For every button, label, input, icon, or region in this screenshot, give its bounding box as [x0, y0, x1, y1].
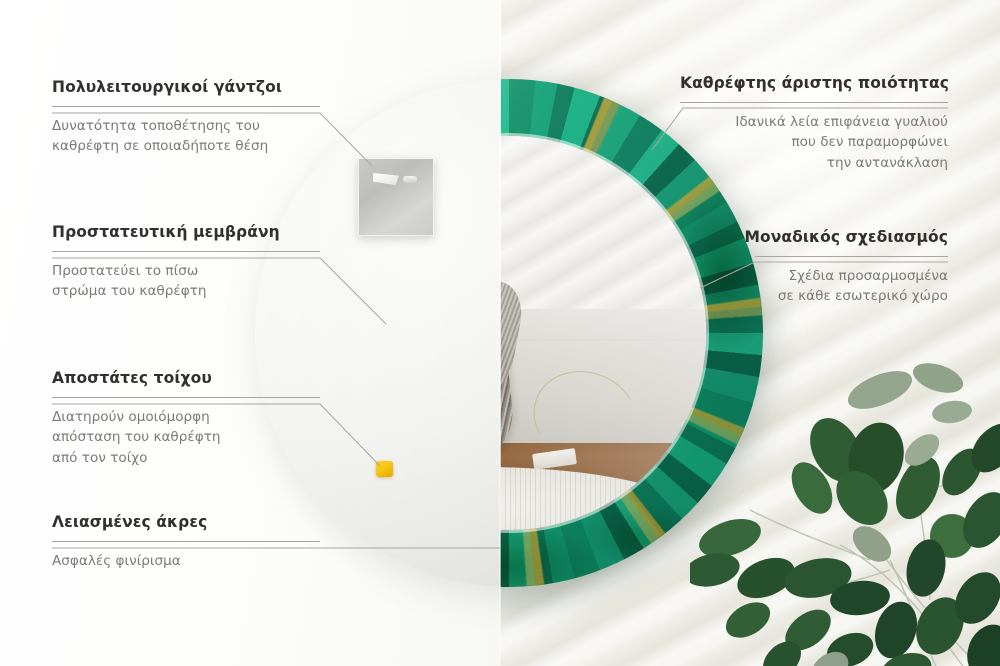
callout-design-rule [755, 256, 948, 257]
glass-specular-shine [500, 136, 706, 530]
callout-hooks-title: Πολυλειτουργικοί γάντζοι [52, 78, 320, 97]
callout-hooks: Πολυλειτουργικοί γάντζοι Δυνατότητα τοπο… [52, 78, 320, 157]
callout-design-body: Σχέδια προσαρμοσμένα σε κάθε εσωτερικό χ… [680, 266, 948, 307]
infographic-canvas: Πολυλειτουργικοί γάντζοι Δυνατότητα τοπο… [0, 0, 1000, 666]
mirror-glass-reflection [500, 136, 706, 530]
panel-split-divider [499, 0, 501, 666]
callout-membrane-body: Προστατεύει το πίσω στρώμα του καθρέφτη [52, 261, 320, 302]
callout-edges-body: Ασφαλές φινίρισμα [52, 551, 320, 572]
callout-membrane: Προστατευτική μεμβράνη Προστατεύει το πί… [52, 223, 320, 302]
callout-hooks-body: Δυνατότητα τοποθέτησης του καθρέφτη σε ο… [52, 116, 320, 157]
callout-spacers-rule [52, 397, 320, 398]
callout-design-title: Μοναδικός σχεδιασμός [680, 228, 948, 247]
callout-edges: Λειασμένες άκρες Ασφαλές φινίρισμα [52, 513, 320, 571]
wall-spacer-pad [376, 461, 393, 477]
callout-spacers: Αποστάτες τοίχου Διατηρούν ομοιόμορφη απ… [52, 369, 320, 469]
callout-edges-rule [52, 541, 320, 542]
callout-edges-title: Λειασμένες άκρες [52, 513, 320, 532]
callout-membrane-title: Προστατευτική μεμβράνη [52, 223, 320, 242]
callout-quality-rule [680, 102, 948, 103]
callout-spacers-title: Αποστάτες τοίχου [52, 369, 320, 388]
callout-quality: Καθρέφτης άριστης ποιότητας Ιδανικά λεία… [680, 74, 948, 174]
callout-design: Μοναδικός σχεδιασμός Σχέδια προσαρμοσμέν… [680, 228, 948, 307]
hook-icon [373, 173, 419, 187]
callout-spacers-body: Διατηρούν ομοιόμορφη απόσταση του καθρέφ… [52, 407, 320, 469]
callout-quality-title: Καθρέφτης άριστης ποιότητας [680, 74, 948, 93]
callout-membrane-rule [52, 251, 320, 252]
mounting-hook-plate [358, 158, 434, 236]
callout-hooks-rule [52, 106, 320, 107]
callout-quality-body: Ιδανικά λεία επιφάνεια γυαλιού που δεν π… [680, 112, 948, 174]
